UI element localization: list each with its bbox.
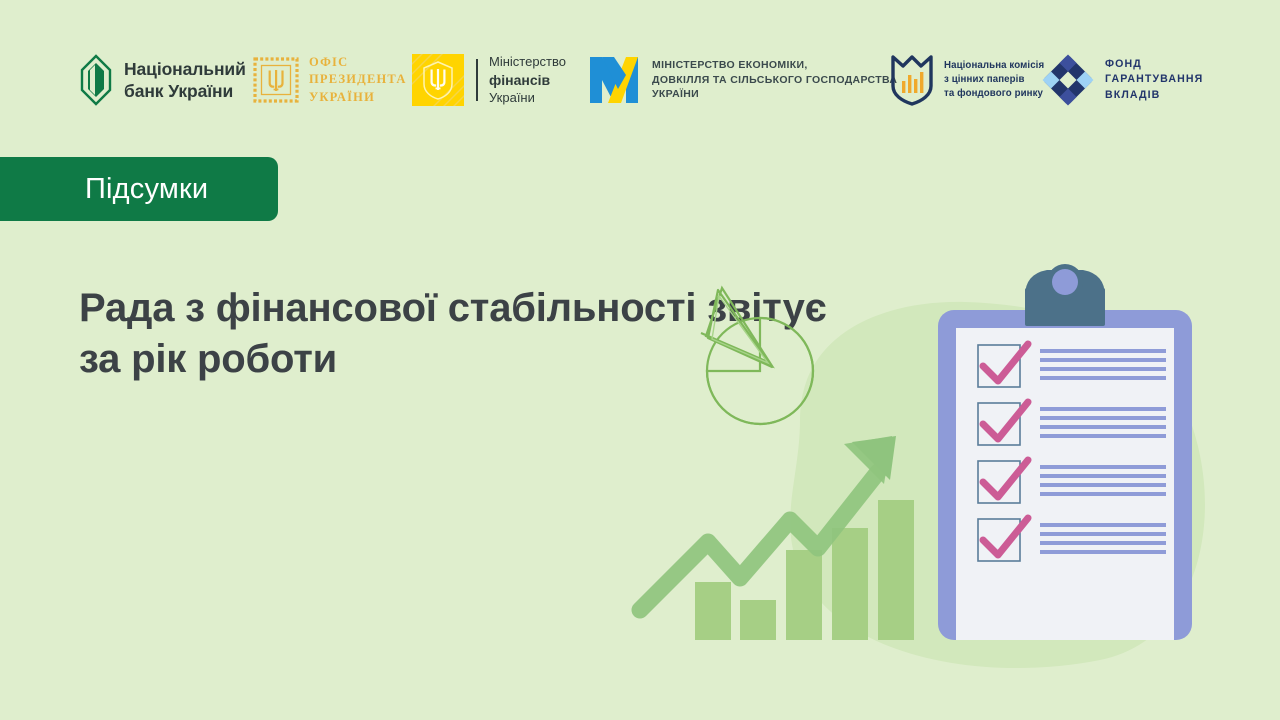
clipboard-checklist — [938, 264, 1192, 640]
clipboard-clip-knob — [1052, 269, 1078, 295]
nssmc-line-1: Національна комісія — [944, 59, 1044, 73]
minfin-line-2: фінансів — [489, 71, 566, 90]
illustration-svg — [600, 240, 1280, 680]
minecon-line-1: МІНІСТЕРСТВО ЕКОНОМІКИ, — [652, 58, 897, 73]
nbu-line-1: Національний — [124, 58, 246, 80]
bar-3 — [786, 550, 822, 640]
dgf-line-3: ВКЛАДІВ — [1105, 88, 1203, 103]
m-letter-icon — [588, 55, 640, 105]
nssmc-line-2: з цінних паперів — [944, 73, 1044, 87]
shield-bars-icon — [890, 54, 934, 106]
bar-1 — [695, 582, 731, 640]
logo-ministry-of-finance: Міністерство фінансів України — [412, 40, 566, 120]
logo-national-bank-of-ukraine: Національний банк України — [78, 40, 246, 120]
logo-nssmc: Національна комісія з цінних паперів та … — [890, 40, 1044, 120]
diamond-rhombus-icon — [1042, 54, 1094, 106]
logo-ministry-of-economy: МІНІСТЕРСТВО ЕКОНОМІКИ, ДОВКІЛЛЯ ТА СІЛЬ… — [588, 40, 897, 120]
section-badge-label: Підсумки — [85, 173, 208, 206]
pie-exploded-slice — [708, 290, 772, 367]
minfin-divider — [476, 59, 478, 101]
bar-2 — [740, 600, 776, 640]
bar-4 — [832, 528, 868, 640]
minfin-line-1: Міністерство — [489, 53, 566, 70]
bar-5 — [878, 500, 914, 640]
minecon-line-2: ДОВКІЛЛЯ ТА СІЛЬСЬКОГО ГОСПОДАРСТВА — [652, 73, 897, 88]
pie-chart-icon — [701, 288, 813, 424]
nbu-emblem-icon — [78, 54, 114, 106]
section-badge: Підсумки — [0, 157, 278, 221]
nssmc-line-3: та фондового ринку — [944, 87, 1044, 101]
logo-office-of-president: ОФІС ПРЕЗИДЕНТА УКРАЇНИ — [252, 40, 407, 120]
op-line-1: ОФІС — [309, 54, 407, 71]
partner-logo-bar: Національний банк України ОФІС ПРЕЗИДЕНТ… — [0, 40, 1280, 120]
nbu-line-2: банк України — [124, 80, 246, 102]
logo-deposit-guarantee-fund: ФОНД ГАРАНТУВАННЯ ВКЛАДІВ — [1042, 40, 1203, 120]
minecon-line-3: УКРАЇНИ — [652, 87, 897, 102]
dgf-line-1: ФОНД — [1105, 57, 1203, 72]
dgf-line-2: ГАРАНТУВАННЯ — [1105, 72, 1203, 87]
op-line-2: ПРЕЗИДЕНТА — [309, 71, 407, 88]
tryzub-yellow-square-icon — [412, 54, 464, 106]
minfin-line-3: України — [489, 89, 566, 106]
report-checklist-growth-illustration — [600, 240, 1280, 680]
poster-canvas: Національний банк України ОФІС ПРЕЗИДЕНТ… — [0, 0, 1280, 720]
op-line-3: УКРАЇНИ — [309, 89, 407, 106]
tryzub-stamp-icon — [252, 56, 300, 104]
